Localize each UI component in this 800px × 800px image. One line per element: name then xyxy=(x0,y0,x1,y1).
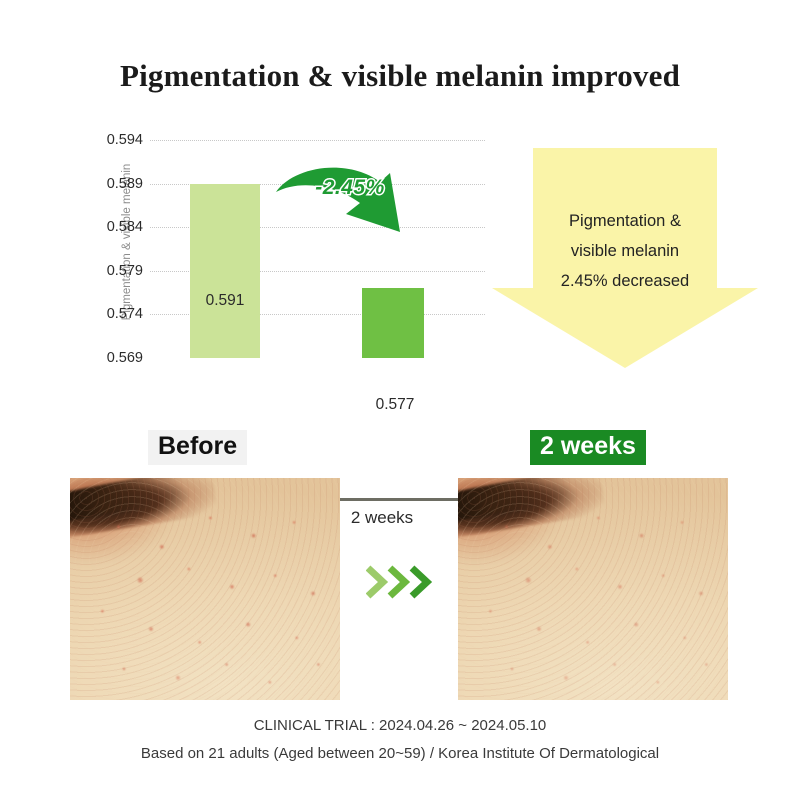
before-skin-photo xyxy=(70,478,340,700)
y-tick-3: 0.579 xyxy=(83,263,143,279)
after-photo-label: 2 weeks xyxy=(530,430,646,465)
footer-line-2: Based on 21 adults (Aged between 20~59) … xyxy=(0,740,800,768)
y-tick-5: 0.569 xyxy=(83,350,143,366)
footer-note: CLINICAL TRIAL : 2024.04.26 ~ 2024.05.10… xyxy=(0,712,800,768)
y-tick-2: 0.584 xyxy=(83,219,143,235)
gridline-0 xyxy=(150,140,485,141)
skin-texture xyxy=(458,478,728,700)
footer-line-1: CLINICAL TRIAL : 2024.04.26 ~ 2024.05.10 xyxy=(0,712,800,740)
bar-before xyxy=(190,184,260,358)
bar-value-before: 0.591 xyxy=(185,292,265,310)
y-tick-1: 0.589 xyxy=(83,176,143,192)
callout-line-2: visible melanin xyxy=(492,236,758,266)
page-title: Pigmentation & visible melanin improved xyxy=(0,58,800,94)
decrease-percentage-label: -2.45% xyxy=(290,176,410,200)
before-photo-label: Before xyxy=(148,430,247,465)
triple-chevron-right-icon xyxy=(366,563,438,603)
y-tick-4: 0.574 xyxy=(83,306,143,322)
skin-texture xyxy=(70,478,340,700)
after-skin-photo xyxy=(458,478,728,700)
bar-value-2-weeks: 0.577 xyxy=(355,396,435,414)
bar-2-weeks xyxy=(362,288,424,358)
callout-line-3: 2.45% decreased xyxy=(492,266,758,296)
summary-callout-text: Pigmentation & visible melanin 2.45% dec… xyxy=(492,206,758,296)
summary-callout: Pigmentation & visible melanin 2.45% dec… xyxy=(492,148,758,368)
callout-line-1: Pigmentation & xyxy=(492,206,758,236)
x-category-2-weeks: 2 weeks xyxy=(327,508,437,528)
chart-y-axis-ticks: 0.594 0.589 0.584 0.579 0.574 0.569 xyxy=(83,140,143,358)
y-tick-0: 0.594 xyxy=(83,132,143,148)
